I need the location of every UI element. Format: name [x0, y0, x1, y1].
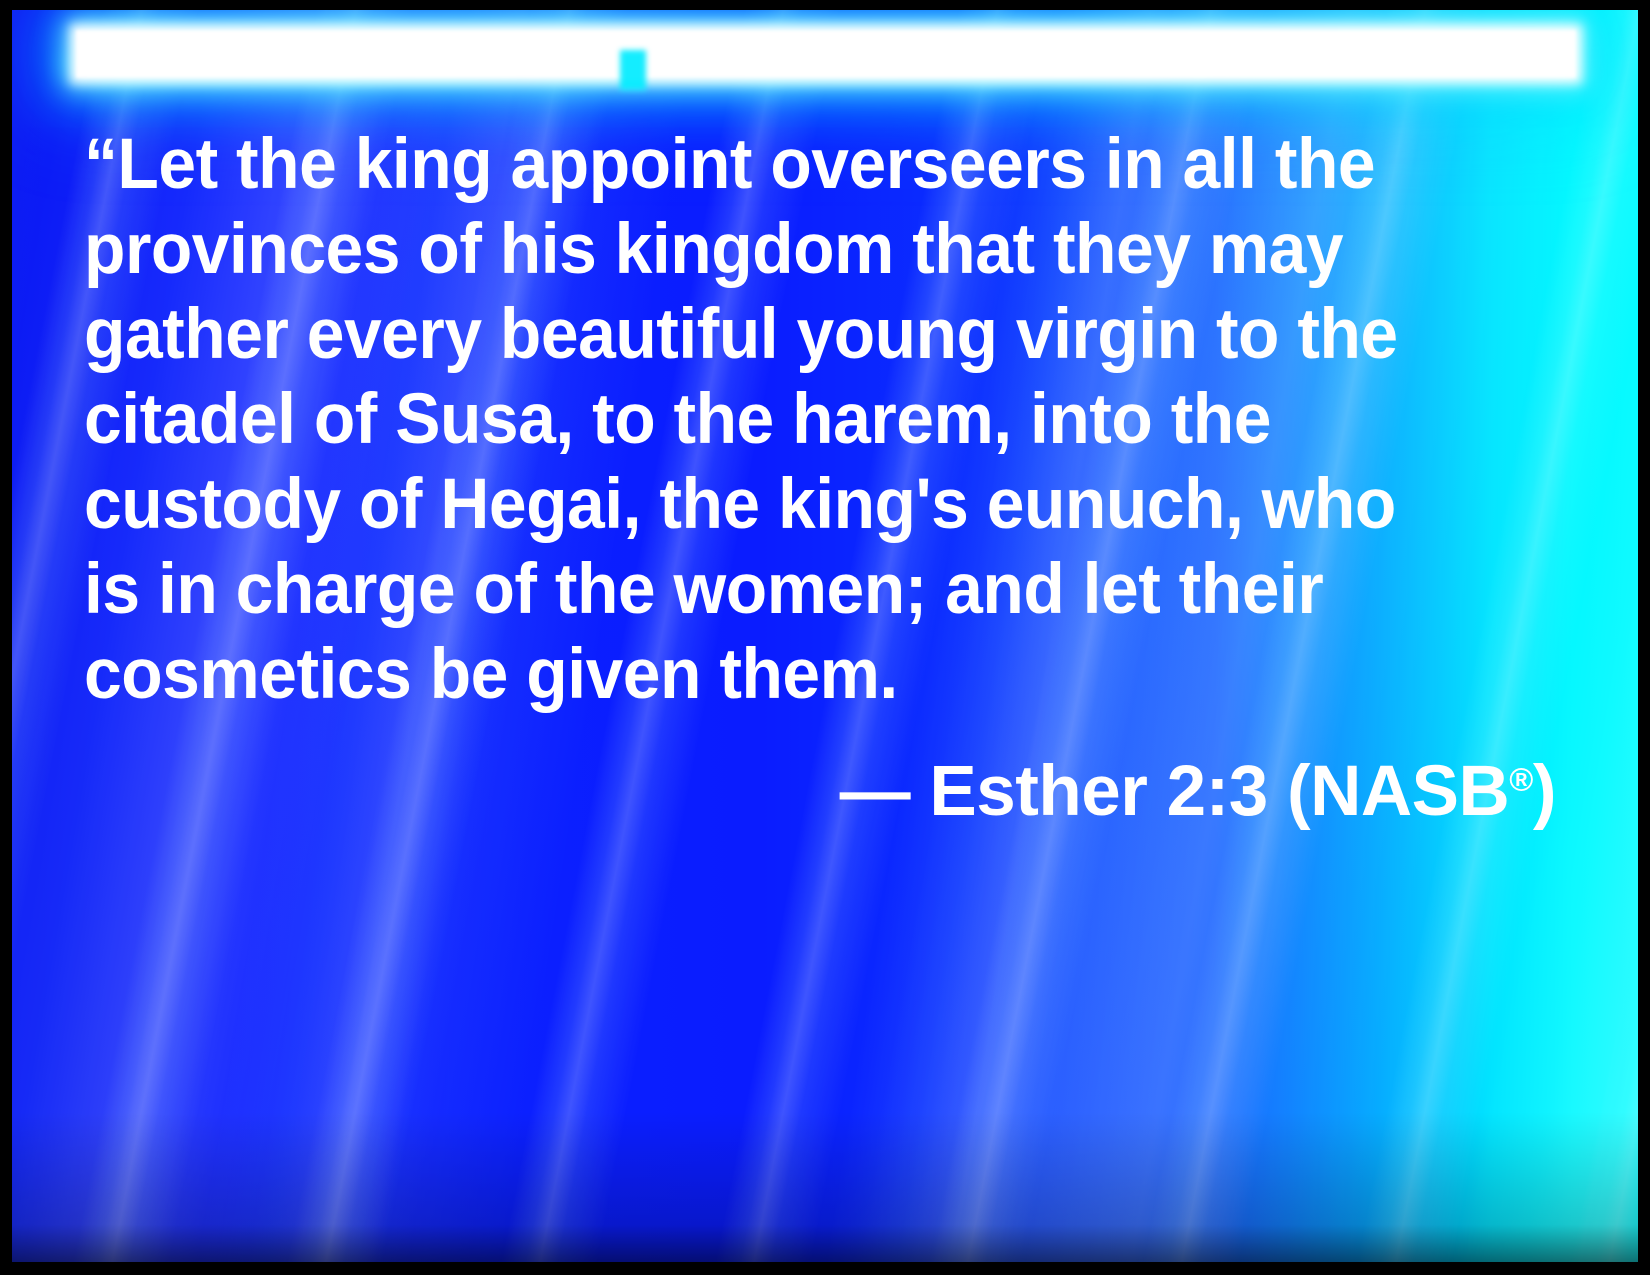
verse-line-7: cosmetics be given them.	[84, 632, 1497, 717]
attribution-reference: 2:3	[1167, 752, 1268, 831]
top-glow-banner	[50, 24, 1600, 86]
attribution-spacer-3	[1268, 752, 1287, 831]
attribution-close-paren: )	[1533, 752, 1556, 831]
attribution-spacer-2	[1147, 752, 1166, 831]
banner-cyan-notch	[620, 50, 646, 90]
verse-line-6: is in charge of the women; and let their	[84, 547, 1497, 632]
attribution-version: NASB	[1310, 752, 1509, 831]
verse-line-4: citadel of Susa, to the harem, into the	[84, 377, 1497, 462]
attribution-open-paren: (	[1287, 752, 1310, 831]
verse-line-5: custody of Hegai, the king's eunuch, who	[84, 462, 1497, 547]
verse-attribution: — Esther 2:3 (NASB®)	[84, 749, 1564, 834]
gradient-background: “Let the king appoint overseers in all t…	[12, 10, 1638, 1262]
verse-slide: “Let the king appoint overseers in all t…	[0, 0, 1650, 1275]
banner-white-core	[76, 30, 1576, 78]
attribution-spacer-1	[910, 752, 929, 831]
attribution-dash: —	[840, 752, 911, 831]
verse-line-3: gather every beautiful young virgin to t…	[84, 292, 1497, 377]
verse-line-2: provinces of his kingdom that they may	[84, 207, 1497, 292]
verse-line-1: “Let the king appoint overseers in all t…	[84, 122, 1497, 207]
verse-text-block: “Let the king appoint overseers in all t…	[84, 122, 1564, 834]
registered-trademark-icon: ®	[1509, 760, 1533, 797]
attribution-book: Esther	[929, 752, 1147, 831]
banner-cyan-glow	[50, 54, 1600, 80]
